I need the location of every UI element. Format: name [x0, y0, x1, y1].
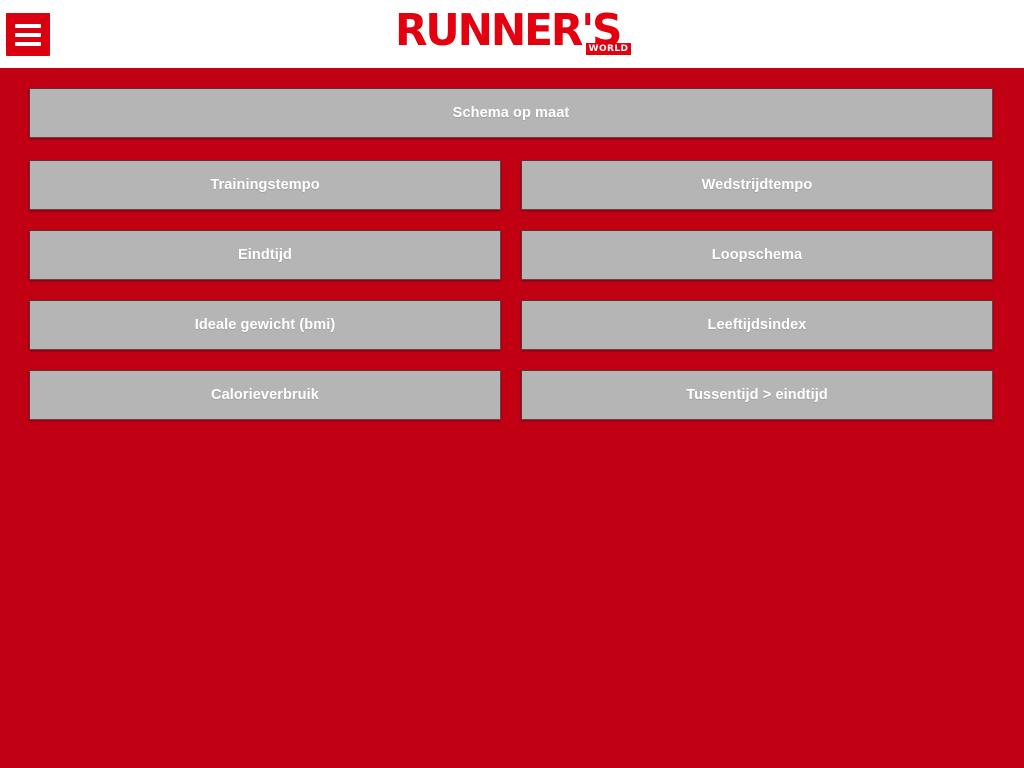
tool-button-trainingstempo[interactable]: Trainingstempo: [29, 160, 501, 210]
hamburger-icon-bar-1: [15, 24, 41, 28]
site-header: RUNNER'S WORLD: [0, 0, 1024, 68]
brand-logo-inner: RUNNER'S WORLD: [395, 9, 630, 53]
brand-logo: RUNNER'S WORLD: [0, 9, 1024, 57]
hamburger-icon-bar-3: [15, 42, 41, 46]
tool-button-loopschema[interactable]: Loopschema: [521, 230, 993, 280]
tool-row: CalorieverbruikTussentijd > eindtijd: [29, 370, 993, 420]
tool-button-wedstrijdtempo[interactable]: Wedstrijdtempo: [521, 160, 993, 210]
brand-subtitle-badge: WORLD: [586, 43, 632, 55]
tool-row: EindtijdLoopschema: [29, 230, 993, 280]
tool-button-ideale-gewicht-bmi[interactable]: Ideale gewicht (bmi): [29, 300, 501, 350]
brand-wordmark: RUNNER'S: [395, 9, 620, 53]
tool-button-eindtijd[interactable]: Eindtijd: [29, 230, 501, 280]
tool-button-schema-op-maat[interactable]: Schema op maat: [29, 88, 993, 138]
hamburger-menu-button[interactable]: [6, 13, 50, 56]
tool-button-tussentijd-eindtijd[interactable]: Tussentijd > eindtijd: [521, 370, 993, 420]
tool-button-leeftijdsindex[interactable]: Leeftijdsindex: [521, 300, 993, 350]
tool-row: Schema op maat: [29, 88, 993, 138]
hamburger-icon-bar-2: [15, 33, 41, 37]
tool-row: TrainingstempoWedstrijdtempo: [29, 160, 993, 210]
tool-button-calorieverbruik[interactable]: Calorieverbruik: [29, 370, 501, 420]
tool-row: Ideale gewicht (bmi)Leeftijdsindex: [29, 300, 993, 350]
tool-grid: Schema op maatTrainingstempoWedstrijdtem…: [0, 68, 1024, 420]
